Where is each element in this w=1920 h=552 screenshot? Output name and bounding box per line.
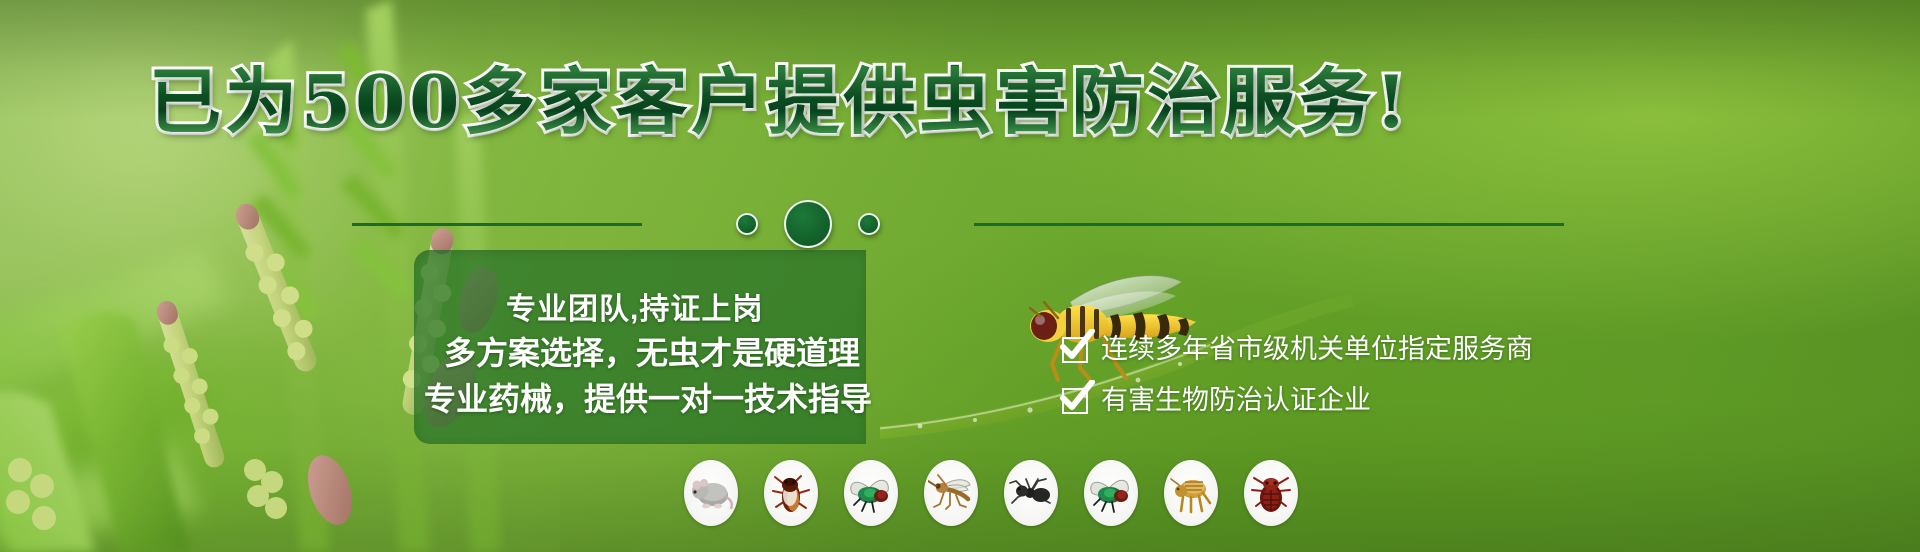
checklist-item-label: 连续多年省市级机关单位指定服务商 (1101, 336, 1533, 363)
divider-dots (642, 200, 974, 248)
checkmark-icon (1062, 337, 1088, 363)
small-dot-icon (736, 213, 758, 235)
mouse-icon[interactable] (684, 460, 738, 526)
divider-line-left (352, 223, 642, 226)
pest-control-hero-banner: 已为500多家客户提供虫害防治服务! 已为500多家客户提供虫害防治服务! 专业… (0, 0, 1920, 552)
cockroach-icon[interactable] (764, 460, 818, 526)
selling-points-list: 专业团队,持证上岗 多方案选择，无虫才是硬道理 专业药械，提供一对一技术指导 (414, 250, 934, 444)
selling-point-line-3: 专业药械，提供一对一技术指导 (424, 382, 934, 417)
selling-point-line-1: 专业团队,持证上岗 (506, 293, 934, 326)
divider (352, 206, 1564, 242)
checklist-item-label: 有害生物防治认证企业 (1101, 387, 1371, 414)
fly-icon[interactable] (844, 460, 898, 526)
selling-point-line-2: 多方案选择，无虫才是硬道理 (444, 336, 934, 371)
checklist-item: 有害生物防治认证企业 (1062, 387, 1533, 414)
certification-checklist: 连续多年省市级机关单位指定服务商 有害生物防治认证企业 (1062, 336, 1533, 414)
mosquito-icon[interactable] (924, 460, 978, 526)
checkmark-icon (1062, 388, 1088, 414)
bedbug-icon[interactable] (1244, 460, 1298, 526)
pest-icon-row (684, 460, 1298, 526)
page-title: 已为500多家客户提供虫害防治服务! (0, 66, 1560, 138)
blowfly-icon[interactable] (1084, 460, 1138, 526)
ant-icon[interactable] (1004, 460, 1058, 526)
small-dot-icon (858, 213, 880, 235)
checklist-item: 连续多年省市级机关单位指定服务商 (1062, 336, 1533, 363)
divider-line-right (974, 223, 1564, 226)
flea-icon[interactable] (1164, 460, 1218, 526)
large-dot-icon (784, 200, 832, 248)
